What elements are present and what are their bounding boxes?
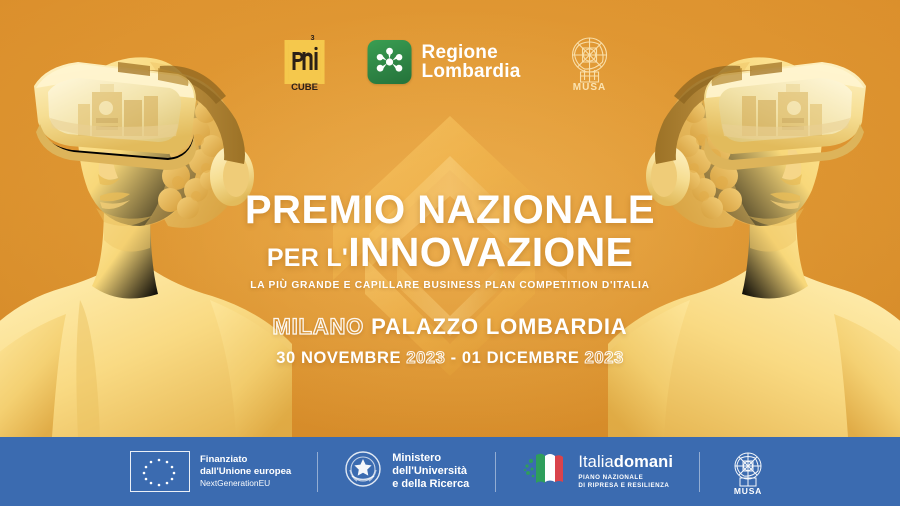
pni-cube-wordmark: CUBE <box>291 82 318 92</box>
regione-line2: Lombardia <box>422 62 521 81</box>
venue-city: MILANO <box>273 314 365 339</box>
title-line-2: PER L'INNOVAZIONE <box>0 232 900 273</box>
lombardy-rose-icon <box>368 40 412 84</box>
footer-logo-italia-domani[interactable]: Italiadomani PIANO NAZIONALE DI RIPRESA … <box>496 449 699 495</box>
footer-logo-musa[interactable]: MUSA <box>700 449 796 495</box>
eu-wordmark: Finanziato dall'Unione europea NextGener… <box>200 454 291 489</box>
eu-line-2: dall'Unione europea <box>200 466 291 477</box>
logo-musa-top[interactable]: MUSA <box>560 32 618 92</box>
date-end-day: 01 DICEMBRE <box>462 349 580 367</box>
italia-domani-name: Italiadomani <box>578 453 673 471</box>
date-start-day: 30 NOVEMBRE <box>276 349 401 367</box>
ministry-line-1: Ministero <box>392 452 469 465</box>
ministry-line-2: dell'Università <box>392 465 469 478</box>
eu-line-3: NextGenerationEU <box>200 479 291 489</box>
date-separator: - <box>451 349 457 367</box>
tagline-line-1: PIANO NAZIONALE <box>578 474 673 482</box>
date-start-year: 2023 <box>406 349 445 367</box>
italia-domani-wordmark: Italiadomani PIANO NAZIONALE DI RIPRESA … <box>578 453 673 490</box>
italia-domani-flag-icon <box>522 449 568 494</box>
italia-light: Italia <box>578 453 613 471</box>
ministry-line-3: e della Ricerca <box>392 478 469 491</box>
poster: CUBE 3 <box>0 0 900 506</box>
date-line: 30 NOVEMBRE 2023 - 01 DICEMBRE 2023 <box>0 350 900 367</box>
domani-bold: domani <box>614 453 673 471</box>
pni-cube-superscript: 3 <box>311 35 315 42</box>
footer-logo-eu[interactable]: Finanziato dall'Unione europea NextGener… <box>104 449 317 495</box>
regione-lombardia-wordmark: Regione Lombardia <box>422 43 521 82</box>
logo-regione-lombardia[interactable]: Regione Lombardia <box>368 40 521 84</box>
title-innovazione: INNOVAZIONE <box>348 229 633 275</box>
musa-tree-icon: MUSA <box>726 449 770 495</box>
italia-domani-tagline: PIANO NAZIONALE DI RIPRESA E RESILIENZA <box>578 474 673 490</box>
date-end-year: 2023 <box>585 349 624 367</box>
tagline-line-2: DI RIPRESA E RESILIENZA <box>578 482 673 490</box>
title-subtitle: LA PIÙ GRANDE E CAPILLARE BUSINESS PLAN … <box>0 280 900 291</box>
musa-footer-wordmark: MUSA <box>734 486 762 495</box>
eu-flag-icon <box>130 451 190 492</box>
eu-line-1: Finanziato <box>200 454 291 465</box>
title-line-1: PREMIO NAZIONALE <box>0 190 900 230</box>
venue-block: MILANOPALAZZO LOMBARDIA 30 NOVEMBRE 2023… <box>0 316 900 367</box>
venue-line: MILANOPALAZZO LOMBARDIA <box>0 316 900 338</box>
venue-place: PALAZZO LOMBARDIA <box>371 314 627 339</box>
footer-bar: Finanziato dall'Unione europea NextGener… <box>0 437 900 506</box>
regione-line1: Regione <box>422 43 521 62</box>
italian-republic-emblem-icon <box>344 450 382 493</box>
logo-pni-cube[interactable]: CUBE 3 <box>282 32 328 92</box>
footer-logo-ministry[interactable]: Ministero dell'Università e della Ricerc… <box>318 449 495 495</box>
title-per: PER L' <box>267 244 348 272</box>
title-block: PREMIO NAZIONALE PER L'INNOVAZIONE LA PI… <box>0 190 900 291</box>
musa-top-wordmark: MUSA <box>573 82 606 92</box>
ministry-wordmark: Ministero dell'Università e della Ricerc… <box>392 452 469 492</box>
top-logo-row: CUBE 3 <box>282 31 619 93</box>
